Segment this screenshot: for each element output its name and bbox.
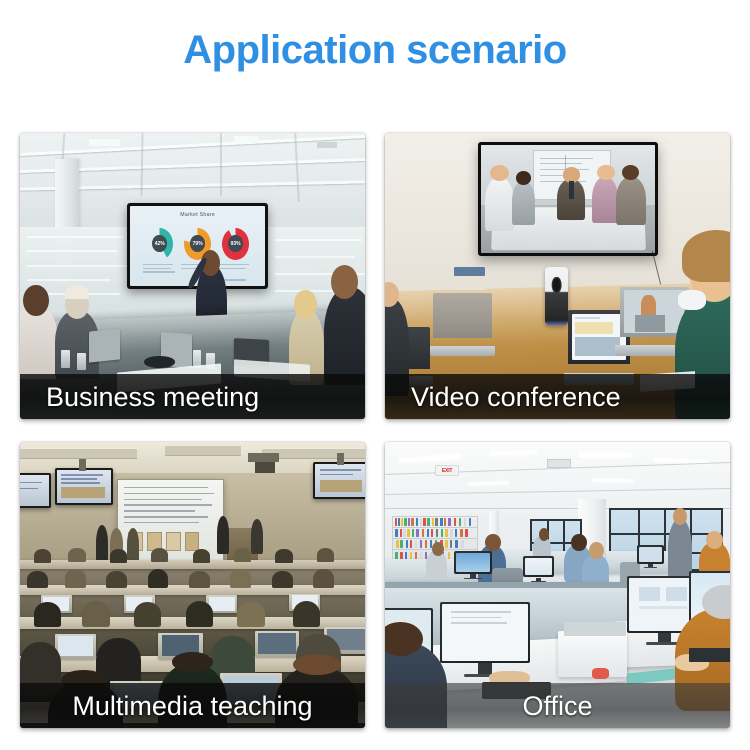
ceiling-display-left (55, 468, 114, 505)
slide-title: Market Share (130, 212, 265, 218)
camera-lens-icon (551, 277, 562, 293)
scenario-panel-multimedia-teaching[interactable]: Multimedia teaching (20, 442, 365, 728)
panel-caption-bar-multimedia-teaching: Multimedia teaching (20, 683, 365, 728)
ceiling-display-right (313, 462, 365, 499)
donut-chart-3: 93% (222, 228, 249, 260)
panel-caption-video-conference: Video conference (385, 382, 621, 412)
conference-camera (545, 267, 567, 324)
panel-caption-bar-office: Office (385, 683, 730, 728)
scenario-panel-video-conference[interactable]: Video conference (385, 133, 730, 419)
scenario-panel-office[interactable]: EXIT (385, 442, 730, 728)
exit-sign: EXIT (435, 465, 459, 476)
desk-monitor-mid (454, 551, 492, 580)
panel-caption-bar-video-conference: Video conference (385, 374, 730, 419)
donut-chart-1: 42% (146, 228, 173, 260)
desk-monitor-front-left (440, 602, 530, 676)
scenario-grid: Market Share 42% 79% 93% (20, 133, 730, 728)
panel-caption-multimedia-teaching: Multimedia teaching (72, 691, 312, 721)
panel-caption-business-meeting: Business meeting (20, 382, 259, 412)
application-scenario-page: Application scenario (0, 0, 750, 750)
page-title: Application scenario (0, 26, 750, 74)
panel-caption-office: Office (522, 691, 592, 721)
scenario-panel-business-meeting[interactable]: Market Share 42% 79% 93% (20, 133, 365, 419)
wall-mounted-tv (478, 142, 657, 256)
panel-caption-bar-business-meeting: Business meeting (20, 374, 365, 419)
ceiling-display-far-left (20, 473, 51, 507)
